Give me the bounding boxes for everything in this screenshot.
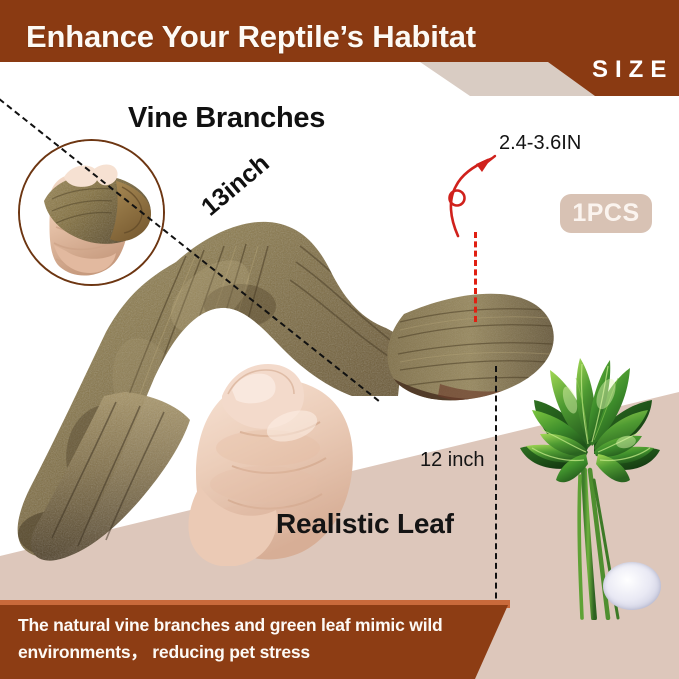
leaf-length-label: 12 inch: [420, 449, 485, 472]
leaf-length-dashed-guide: [495, 366, 497, 628]
red-curved-arrow-icon: [440, 140, 510, 240]
vine-branches-heading: Vine Branches: [128, 102, 325, 135]
suction-cup: [603, 562, 661, 610]
footer-description: The natural vine branches and green leaf…: [18, 612, 488, 666]
realistic-leaf-heading: Realistic Leaf: [276, 508, 454, 540]
vine-diameter-label: 2.4-3.6IN: [499, 132, 581, 155]
product-infographic: Vine Branches 13inch 2.4-3.6IN 1PCS 12 i…: [0, 0, 679, 679]
header-title: Enhance Your Reptile’s Habitat: [26, 19, 476, 55]
quantity-badge: 1PCS: [560, 194, 652, 233]
size-label: SIZE: [592, 56, 673, 84]
vine-diameter-dashed-line: [474, 232, 477, 322]
